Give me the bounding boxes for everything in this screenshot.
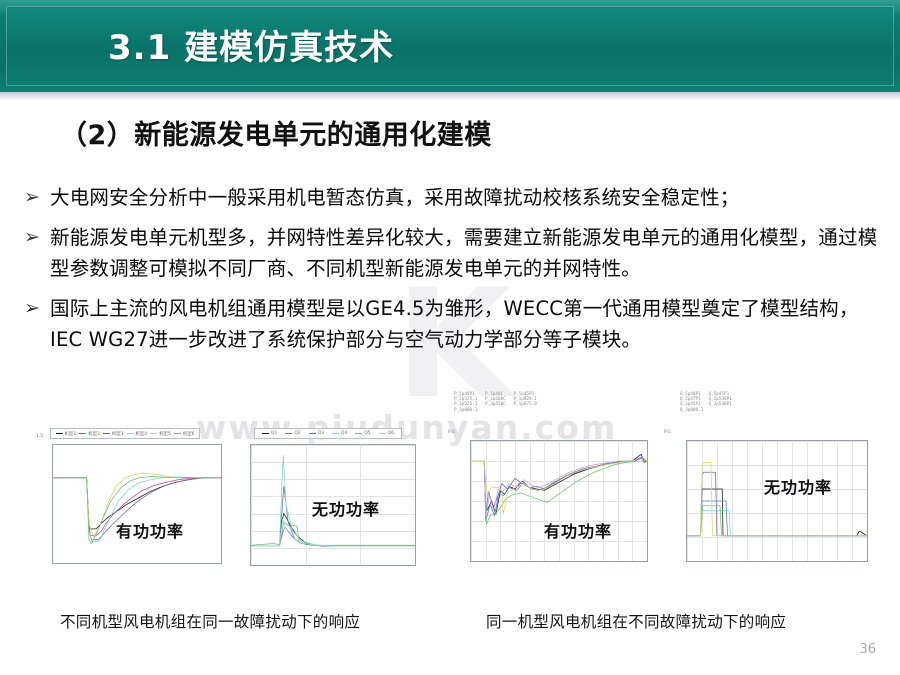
- gridline-vertical: [867, 441, 868, 561]
- bullet-list: ➢ 大电网安全分析中一般采用机电暂态仿真，采用故障扰动校核系统安全稳定性； ➢ …: [24, 182, 880, 364]
- legend-item: Q2: [285, 431, 300, 436]
- bullet-text: 国际上主流的风电机组通用模型是以GE4.5为雏形，WECC第一代通用模型奠定了模…: [50, 293, 880, 355]
- arrow-bullet-icon: ➢: [24, 222, 50, 253]
- legend-color-swatch: [150, 433, 157, 434]
- legend-label: Q4: [341, 431, 347, 436]
- legend-item: Q3: [309, 431, 324, 436]
- legend-color-swatch: [262, 433, 269, 434]
- bullet-item: ➢ 新能源发电单元机型多，并网特性差异化较大，需要建立新能源发电单元的通用化模型…: [24, 222, 880, 284]
- legend-label: Q2: [294, 431, 300, 436]
- series-line: [687, 511, 867, 536]
- chart-3: P_5p40P1 P_5p40C P_5p45P1 P_2p525.1 P_2p…: [448, 392, 674, 588]
- legend-item: Q1: [262, 431, 277, 436]
- chart-3-overlay-label: 有功功率: [544, 518, 612, 542]
- legend-label: 机型4: [136, 431, 148, 437]
- legend-label: 机型3: [112, 431, 124, 437]
- page-number: 36: [859, 642, 876, 657]
- chart-1-ylabel-corner: 1.5: [36, 434, 43, 439]
- gridline-vertical: [415, 445, 416, 565]
- chart-1-overlay-label: 有功功率: [116, 518, 184, 542]
- legend-item: Q4: [332, 431, 347, 436]
- series-line: [251, 519, 415, 546]
- chart-series-layer: [53, 445, 221, 563]
- legend-color-swatch: [285, 433, 292, 434]
- chart-series-layer: [687, 441, 867, 561]
- chart-4-overlay-label: 无功功率: [764, 474, 832, 498]
- caption-left: 不同机型风电机组在同一故障扰动下的响应: [60, 610, 360, 632]
- chart-3-left-unit: P.U.: [448, 430, 456, 435]
- chart-3-param-legend-left: P_5p40P1 P_5p40C P_5p45P1 P_2p525.1 P_2p…: [454, 392, 537, 413]
- legend-label: 机型6: [183, 431, 195, 437]
- legend-color-swatch: [103, 433, 110, 434]
- chart-4-param-legend-right: Q_5p40P1 Q_5p45P1 Q_2p47P1 Q_2p540P1 Q_3…: [680, 392, 732, 413]
- chart-1-legend: 机型1机型2机型3机型4机型5机型6: [50, 428, 200, 439]
- legend-item: 机型5: [150, 431, 171, 437]
- header-banner: 3.1 建模仿真技术: [0, 0, 900, 92]
- gridline-horizontal: [687, 561, 867, 562]
- legend-item: Q6: [379, 431, 394, 436]
- series-line: [251, 527, 415, 546]
- series-line: [687, 501, 867, 536]
- arrow-bullet-icon: ➢: [24, 293, 50, 324]
- section-subtitle: （2）新能源发电单元的通用化建模: [60, 113, 492, 152]
- gridline-horizontal: [251, 565, 415, 566]
- legend-label: Q6: [388, 431, 394, 436]
- chart-3-right-unit: P.U.: [664, 430, 672, 435]
- legend-label: Q3: [318, 431, 324, 436]
- legend-color-swatch: [56, 433, 63, 434]
- slide-root: 3.1 建模仿真技术 （2）新能源发电单元的通用化建模 K www.piudun…: [0, 0, 900, 675]
- figure-area: 机型1机型2机型3机型4机型5机型6 1.51.20.90.60.30.0-0.…: [0, 390, 900, 605]
- chart-series-layer: [471, 441, 647, 561]
- legend-item: 机型2: [79, 431, 100, 437]
- page-title: 3.1 建模仿真技术: [108, 20, 394, 69]
- chart-2: Q1Q2Q3Q4Q5Q6 1.210.80.60.40.20-0.2051015…: [236, 428, 426, 588]
- legend-color-swatch: [127, 433, 134, 434]
- caption-right: 同一机型风电机组在不同故障扰动下的响应: [486, 610, 786, 632]
- chart-2-legend: Q1Q2Q3Q4Q5Q6: [254, 428, 402, 439]
- legend-color-swatch: [379, 433, 386, 434]
- legend-label: 机型5: [159, 431, 171, 437]
- legend-color-swatch: [355, 433, 362, 434]
- legend-label: Q5: [364, 431, 370, 436]
- legend-color-swatch: [309, 433, 316, 434]
- bullet-text: 新能源发电单元机型多，并网特性差异化较大，需要建立新能源发电单元的通用化模型，通…: [50, 222, 880, 284]
- legend-color-swatch: [79, 433, 86, 434]
- series-line: [251, 522, 415, 545]
- chart-1: 机型1机型2机型3机型4机型5机型6 1.51.20.90.60.30.0-0.…: [24, 428, 230, 588]
- legend-label: Q1: [271, 431, 277, 436]
- legend-color-swatch: [332, 433, 339, 434]
- legend-label: 机型2: [88, 431, 100, 437]
- legend-item: 机型4: [127, 431, 148, 437]
- chart-2-overlay-label: 无功功率: [312, 496, 380, 520]
- chart-4: Q_5p40P1 Q_5p45P1 Q_2p47P1 Q_2p540P1 Q_3…: [678, 392, 888, 588]
- header-shadow: [0, 92, 900, 101]
- legend-label: 机型1: [65, 431, 77, 437]
- legend-color-swatch: [174, 433, 181, 434]
- gridline-vertical: [647, 441, 648, 561]
- gridline-horizontal: [471, 561, 647, 562]
- bullet-text: 大电网安全分析中一般采用机电暂态仿真，采用故障扰动校核系统安全稳定性；: [50, 182, 880, 213]
- chart-4-plot: 0.80.60.40.20.0-0.2234567891011121314: [686, 440, 868, 562]
- bullet-item: ➢ 大电网安全分析中一般采用机电暂态仿真，采用故障扰动校核系统安全稳定性；: [24, 182, 880, 213]
- chart-3-plot: 1.31.21.11.00.90.80.70.60.50.40.30.20.10…: [470, 440, 648, 562]
- chart-1-plot: 1.51.20.90.60.30.0-0.3012345678910111213…: [52, 444, 222, 564]
- legend-item: 机型3: [103, 431, 124, 437]
- legend-item: 机型6: [174, 431, 195, 437]
- legend-item: 机型1: [56, 431, 77, 437]
- bullet-item: ➢ 国际上主流的风电机组通用模型是以GE4.5为雏形，WECC第一代通用模型奠定…: [24, 293, 880, 355]
- legend-item: Q5: [355, 431, 370, 436]
- arrow-bullet-icon: ➢: [24, 182, 50, 213]
